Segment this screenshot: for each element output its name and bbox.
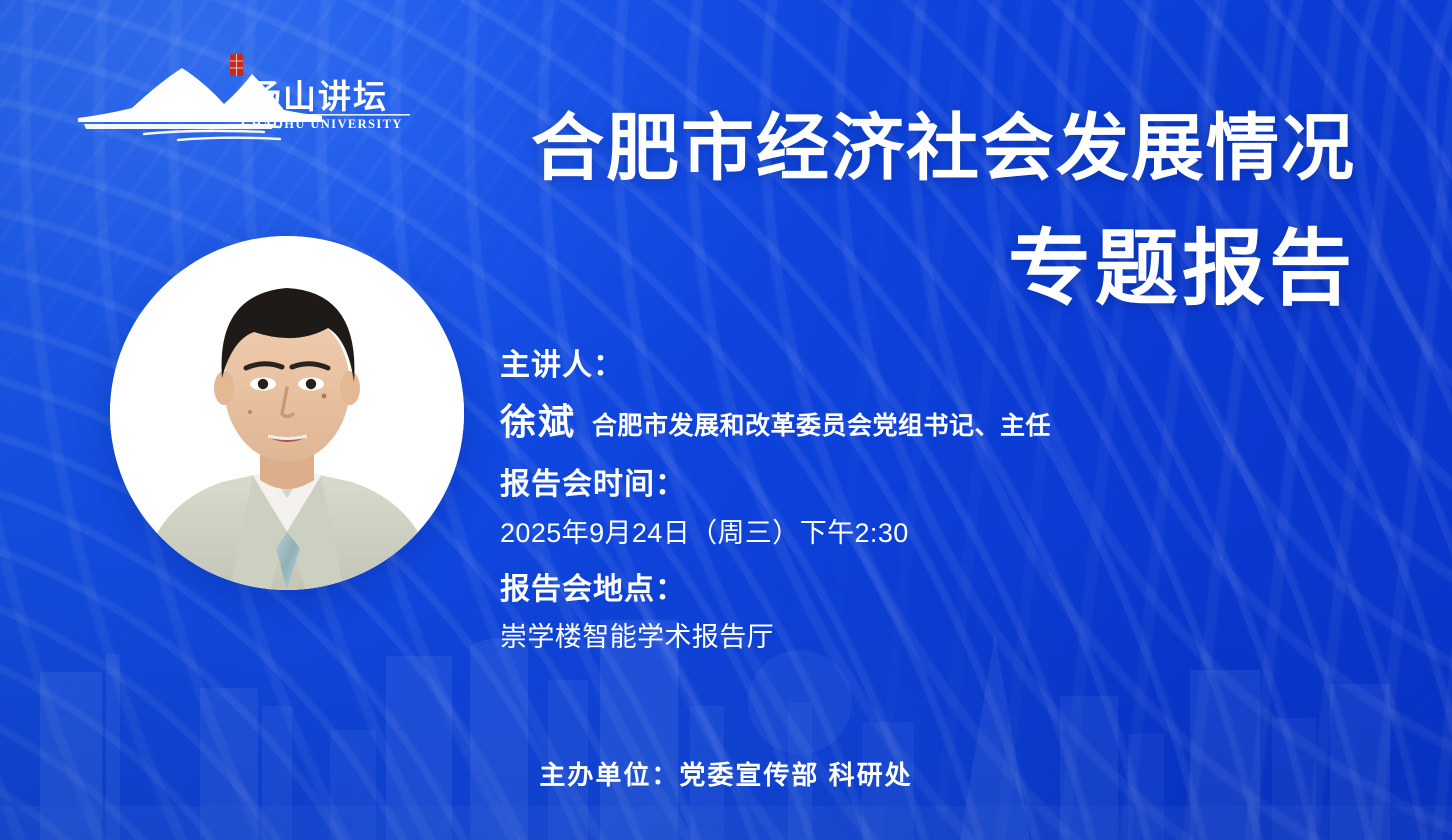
place-group: 报告会地点： 崇学楼智能学术报告厅 xyxy=(500,572,1260,654)
speaker-row: 徐斌 合肥市发展和改革委员会党组书记、主任 xyxy=(500,393,1260,445)
speaker-label: 主讲人： xyxy=(500,348,1260,383)
speaker-title: 合肥市发展和改革委员会党组书记、主任 xyxy=(592,406,1051,442)
red-seal-icon xyxy=(230,54,243,76)
organizers-footer: 主办单位：党委宣传部 科研处 xyxy=(0,755,1452,792)
time-value: 2025年9月24日（周三）下午2:30 xyxy=(500,511,1260,550)
chaohu-university-logo: 汤山讲坛 CHAOHU UNIVERSITY xyxy=(74,52,414,144)
poster-title: 合肥市经济社会发展情况 专题报告 xyxy=(531,112,1356,310)
time-group: 报告会时间： 2025年9月24日（周三）下午2:30 xyxy=(500,467,1260,549)
title-line-1: 合肥市经济社会发展情况 xyxy=(531,112,1356,185)
place-label: 报告会地点： xyxy=(500,572,1260,607)
speaker-name: 徐斌 xyxy=(500,393,576,445)
svg-text:汤山讲坛: 汤山讲坛 xyxy=(248,77,388,116)
place-value: 崇学楼智能学术报告厅 xyxy=(500,615,1260,654)
speaker-portrait xyxy=(110,236,464,590)
title-line-2: 专题报告 xyxy=(531,227,1356,310)
event-info-block: 主讲人： 徐斌 合肥市发展和改革委员会党组书记、主任 报告会时间： 2025年9… xyxy=(500,348,1260,654)
poster-canvas: 汤山讲坛 CHAOHU UNIVERSITY 合肥市经济社会发展情况 专题报告 xyxy=(0,0,1452,840)
time-label: 报告会时间： xyxy=(500,467,1260,502)
svg-text:CHAOHU UNIVERSITY: CHAOHU UNIVERSITY xyxy=(241,117,403,131)
